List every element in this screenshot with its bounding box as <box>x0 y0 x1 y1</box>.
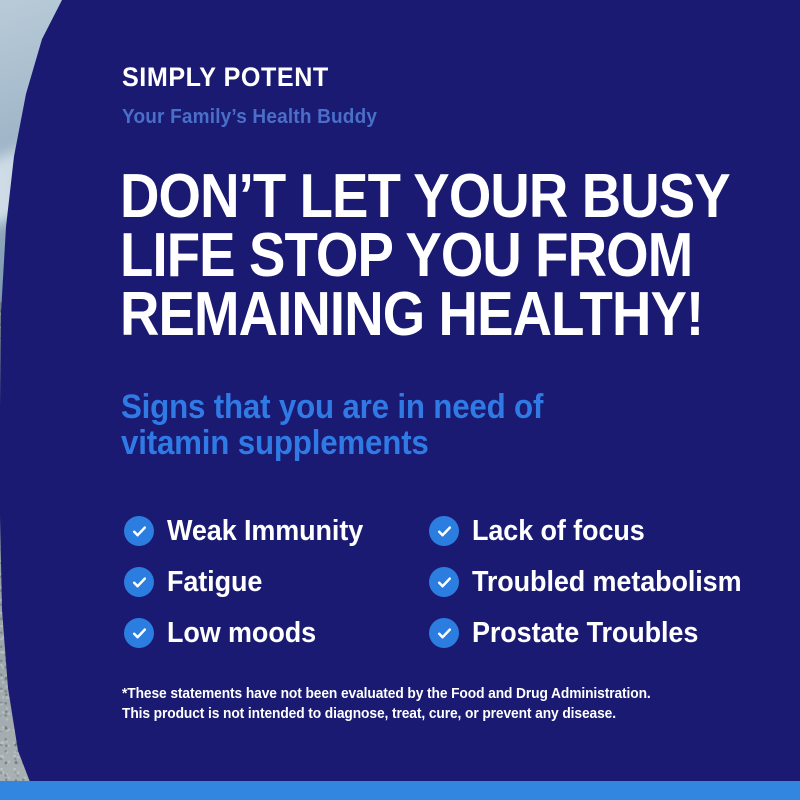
subheading: Signs that you are in need of vitamin su… <box>121 389 691 461</box>
advertisement-canvas: SIMPLY POTENT Your Family’s Health Buddy… <box>0 0 800 800</box>
check-circle-icon <box>124 618 154 648</box>
list-item: Lack of focus <box>429 513 784 549</box>
list-item-label: Lack of focus <box>472 517 645 546</box>
list-item: Low moods <box>124 615 429 651</box>
check-circle-icon <box>429 516 459 546</box>
list-item-label: Prostate Troubles <box>472 619 698 648</box>
disclaimer-line-2: This product is not intended to diagnose… <box>122 704 749 724</box>
check-circle-icon <box>124 567 154 597</box>
disclaimer-line-1: *These statements have not been evaluate… <box>122 684 749 704</box>
list-item: Weak Immunity <box>124 513 429 549</box>
list-item-label: Fatigue <box>167 568 262 597</box>
list-item: Troubled metabolism <box>429 564 784 600</box>
headline: DON’T LET YOUR BUSY LIFE STOP YOU FROM R… <box>120 168 683 345</box>
list-item-label: Low moods <box>167 619 316 648</box>
list-item-label: Troubled metabolism <box>472 568 741 597</box>
symptom-list: Weak Immunity Lack of focus Fatigue <box>124 513 784 651</box>
list-item: Prostate Troubles <box>429 615 784 651</box>
subheading-line-1: Signs that you are in need of <box>121 389 691 425</box>
check-circle-icon <box>429 618 459 648</box>
headline-line-2: LIFE STOP YOU FROM <box>120 227 683 286</box>
list-item-label: Weak Immunity <box>167 517 363 546</box>
check-circle-icon <box>124 516 154 546</box>
check-circle-icon <box>429 567 459 597</box>
legal-disclaimer: *These statements have not been evaluate… <box>122 684 749 724</box>
brand-tagline: Your Family’s Health Buddy <box>122 107 377 127</box>
headline-line-1: DON’T LET YOUR BUSY <box>120 168 683 227</box>
list-item: Fatigue <box>124 564 429 600</box>
brand-name: SIMPLY POTENT <box>122 64 329 91</box>
headline-line-3: REMAINING HEALTHY! <box>120 286 683 345</box>
content-layer: SIMPLY POTENT Your Family’s Health Buddy… <box>0 0 800 800</box>
subheading-line-2: vitamin supplements <box>121 425 691 461</box>
